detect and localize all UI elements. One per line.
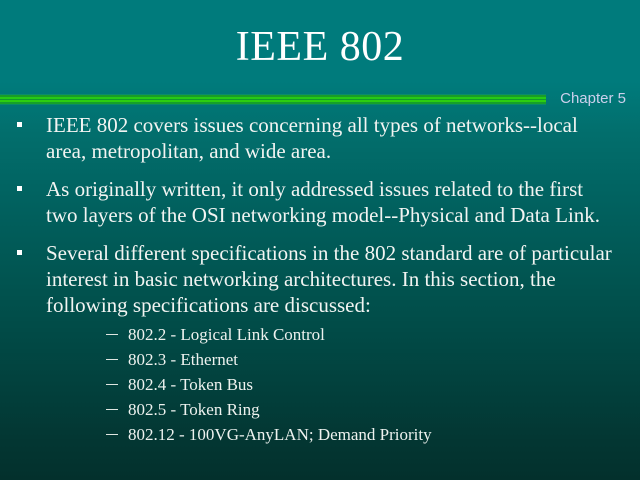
sub-bullet-text: 802.5 - Token Ring bbox=[128, 397, 614, 422]
bullet-text: Several different specifications in the … bbox=[46, 240, 614, 318]
sub-bullet-text: 802.4 - Token Bus bbox=[128, 372, 614, 397]
dash-bullet-icon bbox=[106, 359, 118, 360]
list-item: Several different specifications in the … bbox=[0, 240, 640, 447]
list-item: 802.12 - 100VG-AnyLAN; Demand Priority bbox=[46, 422, 614, 447]
list-item: 802.3 - Ethernet bbox=[46, 347, 614, 372]
list-item: 802.5 - Token Ring bbox=[46, 397, 614, 422]
list-item: IEEE 802 covers issues concerning all ty… bbox=[0, 112, 640, 164]
dash-bullet-icon bbox=[106, 334, 118, 335]
divider-band-7 bbox=[0, 104, 546, 105]
bullet-text: IEEE 802 covers issues concerning all ty… bbox=[46, 112, 614, 164]
title-divider-rule bbox=[0, 94, 546, 105]
list-item: As originally written, it only addressed… bbox=[0, 176, 640, 228]
square-bullet-icon bbox=[17, 186, 22, 191]
square-bullet-icon bbox=[17, 122, 22, 127]
presentation-slide: IEEE 802 Chapter 5 IEEE 802 covers issue… bbox=[0, 0, 640, 480]
slide-body: IEEE 802 covers issues concerning all ty… bbox=[0, 112, 640, 459]
bullet-list: IEEE 802 covers issues concerning all ty… bbox=[0, 112, 640, 447]
sub-bullet-list: 802.2 - Logical Link Control 802.3 - Eth… bbox=[46, 322, 614, 447]
square-bullet-icon bbox=[17, 250, 22, 255]
list-item: 802.2 - Logical Link Control bbox=[46, 322, 614, 347]
sub-bullet-text: 802.3 - Ethernet bbox=[128, 347, 614, 372]
page-title: IEEE 802 bbox=[236, 24, 404, 70]
dash-bullet-icon bbox=[106, 384, 118, 385]
sub-bullet-text: 802.2 - Logical Link Control bbox=[128, 322, 614, 347]
dash-bullet-icon bbox=[106, 434, 118, 435]
dash-bullet-icon bbox=[106, 409, 118, 410]
sub-bullet-text: 802.12 - 100VG-AnyLAN; Demand Priority bbox=[128, 422, 614, 447]
list-item: 802.4 - Token Bus bbox=[46, 372, 614, 397]
bullet-text: As originally written, it only addressed… bbox=[46, 176, 614, 228]
slide-title-area: IEEE 802 bbox=[0, 24, 640, 70]
chapter-label: Chapter 5 bbox=[560, 90, 626, 108]
